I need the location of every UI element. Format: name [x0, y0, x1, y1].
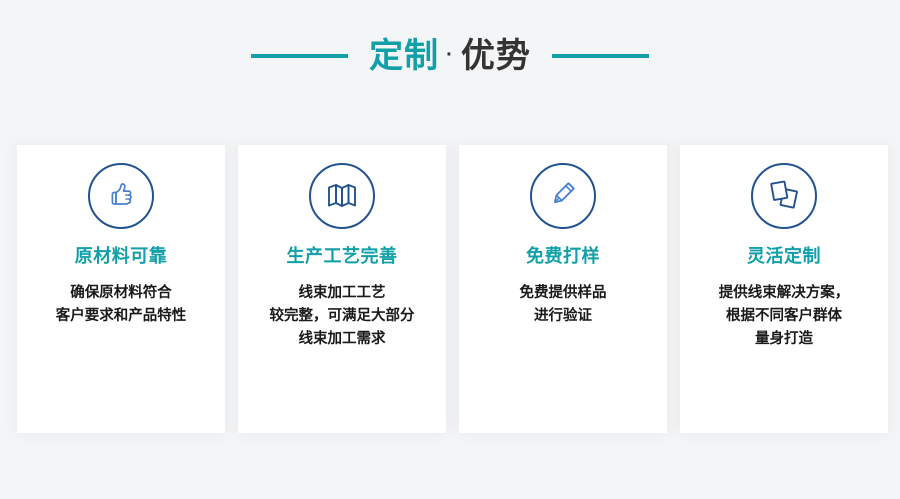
- heading-rule-left: [251, 54, 348, 58]
- card-body-line: 根据不同客户群体: [684, 305, 884, 328]
- card-body: 确保原材料符合 客户要求和产品特性: [21, 282, 221, 328]
- advantage-card[interactable]: 免费打样 免费提供样品 进行验证: [459, 145, 667, 433]
- card-title: 灵活定制: [747, 247, 821, 265]
- heading-separator-dot: ·: [439, 45, 461, 65]
- card-body-line: 线束加工工艺: [242, 282, 442, 305]
- heading-accent-text: 定制: [369, 39, 439, 73]
- card-body-line: 进行验证: [463, 305, 663, 328]
- folded-map-icon: [324, 177, 360, 216]
- card-body-line: 确保原材料符合: [21, 282, 221, 305]
- customization-advantages-page: { "heading": { "accent_text": "定制", "sep…: [0, 0, 900, 499]
- card-title: 原材料可靠: [75, 247, 168, 265]
- advantage-card[interactable]: 原材料可靠 确保原材料符合 客户要求和产品特性: [17, 145, 225, 433]
- heading-main-text: 优势: [461, 39, 531, 73]
- card-body-line: 量身打造: [684, 328, 884, 351]
- card-body-line: 线束加工需求: [242, 328, 442, 351]
- advantage-card[interactable]: 灵活定制 提供线束解决方案， 根据不同客户群体 量身打造: [680, 145, 888, 433]
- card-body: 线束加工工艺 较完整，可满足大部分 线束加工需求: [242, 282, 442, 351]
- card-body: 提供线束解决方案， 根据不同客户群体 量身打造: [684, 282, 884, 351]
- icon-circle: [530, 163, 596, 229]
- pencil-icon: [546, 177, 580, 216]
- section-heading: 定制 · 优势: [0, 26, 900, 86]
- icon-circle: [751, 163, 817, 229]
- card-title: 免费打样: [526, 247, 600, 265]
- heading-text: 定制 · 优势: [369, 39, 531, 73]
- advantage-card-grid: 原材料可靠 确保原材料符合 客户要求和产品特性 生产工艺完善 线束加工工艺 较完…: [17, 145, 888, 433]
- thumbs-up-icon: [104, 177, 138, 216]
- stacked-cards-icon: [766, 177, 802, 216]
- card-body-line: 提供线束解决方案，: [684, 282, 884, 305]
- card-body-line: 较完整，可满足大部分: [242, 305, 442, 328]
- card-title: 生产工艺完善: [287, 247, 398, 265]
- icon-circle: [309, 163, 375, 229]
- icon-circle: [88, 163, 154, 229]
- card-body-line: 客户要求和产品特性: [21, 305, 221, 328]
- card-body: 免费提供样品 进行验证: [463, 282, 663, 328]
- heading-rule-right: [552, 54, 649, 58]
- card-body-line: 免费提供样品: [463, 282, 663, 305]
- advantage-card[interactable]: 生产工艺完善 线束加工工艺 较完整，可满足大部分 线束加工需求: [238, 145, 446, 433]
